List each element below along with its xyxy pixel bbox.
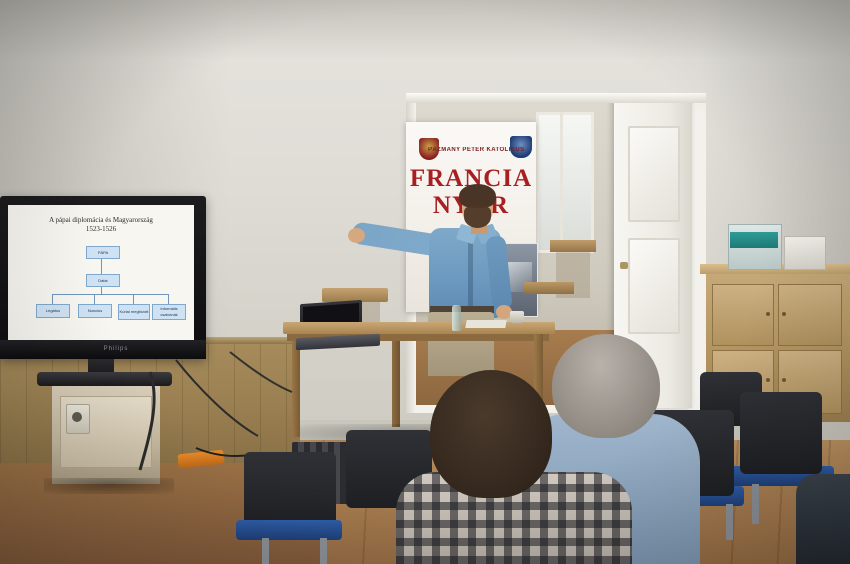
presenter-beard bbox=[464, 206, 491, 228]
door-handle[interactable] bbox=[620, 262, 628, 269]
adjacent-room-window bbox=[536, 112, 594, 253]
cabinet-knob-4[interactable] bbox=[782, 378, 786, 382]
chair-back-4[interactable] bbox=[740, 392, 822, 474]
papers bbox=[465, 320, 506, 328]
slide-title-line1: A pápai diplomácia és Magyarország bbox=[8, 216, 194, 225]
audience-front-left-head bbox=[430, 370, 552, 498]
chair-seat-1[interactable] bbox=[236, 520, 342, 540]
slide-node-datar: Datár bbox=[86, 274, 120, 287]
slide-node-kuria: Kúriai megbízott bbox=[118, 304, 150, 320]
background-chair-back-3[interactable] bbox=[524, 282, 574, 294]
cabinet-door-1[interactable] bbox=[712, 284, 774, 346]
presenter-left-hand bbox=[348, 228, 365, 243]
storage-box-teal-band bbox=[730, 232, 778, 248]
slide-node-legatus: Legátus bbox=[36, 304, 70, 318]
door-panel-upper bbox=[628, 126, 680, 222]
slide-connector-bus bbox=[52, 294, 168, 295]
chair-leg-2 bbox=[320, 538, 327, 564]
cup bbox=[510, 311, 524, 323]
window-mullion bbox=[560, 112, 563, 247]
chair-leg-5 bbox=[752, 484, 759, 524]
presenter-hair bbox=[459, 184, 496, 208]
presenter-shirt-placket bbox=[468, 232, 473, 314]
slide-title: A pápai diplomácia és Magyarország 1523-… bbox=[8, 216, 194, 234]
chair-leg-1 bbox=[262, 538, 269, 564]
slide-node-nuncius: Nuncius bbox=[78, 304, 112, 318]
water-bottle bbox=[452, 305, 461, 331]
background-chair-back-2[interactable] bbox=[550, 240, 596, 252]
slide-node-informal: Informális csatornák bbox=[152, 304, 186, 320]
slide-connector-4 bbox=[94, 294, 95, 304]
slide-title-line2: 1523-1526 bbox=[8, 225, 194, 234]
door-panel-lower bbox=[628, 238, 680, 334]
tv-screen[interactable]: A pápai diplomácia és Magyarország 1523-… bbox=[8, 205, 194, 340]
cabinet-knob-3[interactable] bbox=[766, 378, 770, 382]
cabinet-door-2[interactable] bbox=[778, 284, 842, 346]
chair-leg-4 bbox=[726, 504, 733, 540]
door-lintel bbox=[406, 93, 706, 103]
audience-far-right-shoulder bbox=[796, 474, 850, 564]
cabinet-knob-1[interactable] bbox=[766, 312, 770, 316]
slide-connector-1 bbox=[101, 257, 102, 274]
cabinet-knob-2[interactable] bbox=[782, 312, 786, 316]
slide-connector-6 bbox=[168, 294, 169, 304]
photo-scene: PÁZMÁNY PÉTER KATOLIKUS EGYETEM FRANCIA … bbox=[0, 0, 850, 564]
storage-box-white bbox=[784, 236, 826, 270]
audience-front-right-head bbox=[552, 334, 660, 438]
slide-connector-3 bbox=[52, 294, 53, 304]
banner-organisation-text: PÁZMÁNY PÉTER KATOLIKUS EGYETEM bbox=[428, 147, 524, 153]
slide-connector-5 bbox=[133, 294, 134, 304]
slide-node-papa: PÁPA bbox=[86, 246, 120, 259]
